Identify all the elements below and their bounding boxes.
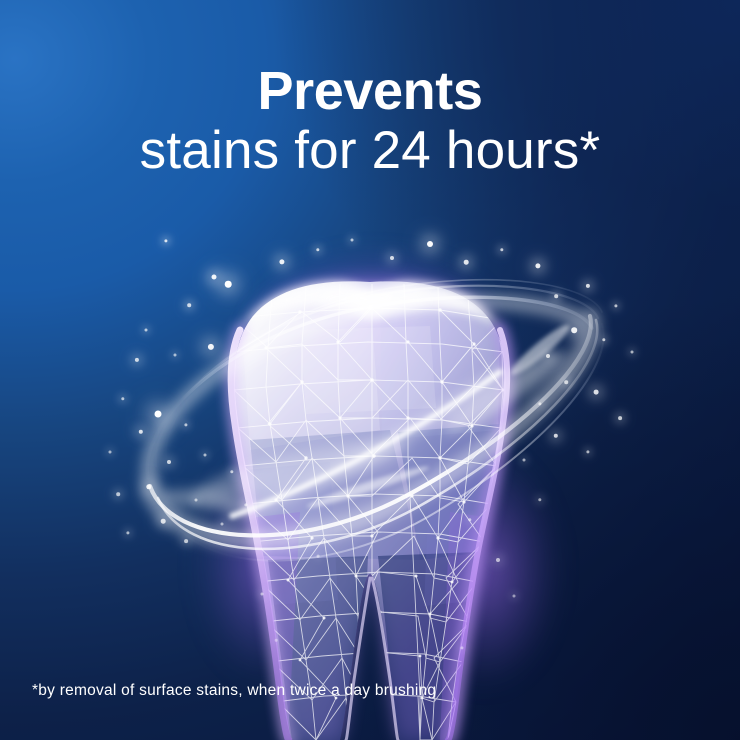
headline-block: Prevents stains for 24 hours* bbox=[0, 62, 740, 182]
advertisement-canvas: Prevents stains for 24 hours* *by remova… bbox=[0, 0, 740, 740]
footnote-text: *by removal of surface stains, when twic… bbox=[32, 682, 436, 700]
headline-line-1: Prevents bbox=[0, 62, 740, 120]
tooth-core-glow bbox=[235, 300, 505, 530]
headline-line-2: stains for 24 hours* bbox=[0, 120, 740, 182]
